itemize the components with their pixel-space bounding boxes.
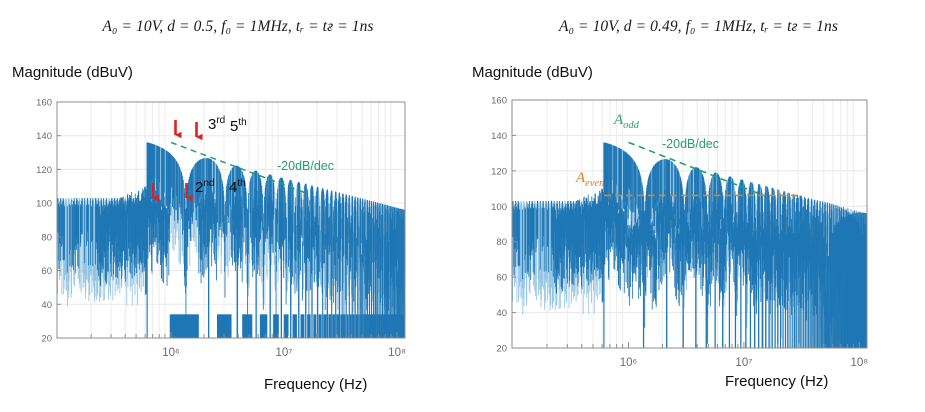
left-panel-title: A₀ = 10V, d = 0.5, f₀ = 1MHz, tᵣ = tғ = …	[0, 18, 462, 36]
left-x-tick-labels: 10⁶ 10⁷ 10⁸	[162, 347, 406, 359]
left-panel: A₀ = 10V, d = 0.5, f₀ = 1MHz, tᵣ = tғ = …	[0, 0, 462, 412]
y-tick-label: 140	[36, 131, 52, 142]
y-tick-label: 120	[491, 166, 507, 177]
x-tick-label: 10⁷	[276, 347, 293, 359]
left-plot-svg: 160 140 120 100 80 60 40 20 10⁶ 10⁷ 10⁸	[0, 90, 462, 370]
right-y-axis-title: Magnitude (dBuV)	[472, 64, 593, 81]
y-tick-label: 40	[41, 300, 52, 311]
right-x-axis-title: Frequency (Hz)	[725, 373, 828, 390]
left-x-axis-title: Frequency (Hz)	[264, 376, 367, 393]
right-plot-svg: 160 140 120 100 80 60 40 20 10⁶ 10⁷ 10⁸	[462, 88, 925, 368]
left-plot-area: 160 140 120 100 80 60 40 20 10⁶ 10⁷ 10⁸	[0, 90, 462, 370]
right-x-tick-labels: 10⁶ 10⁷ 10⁸	[620, 357, 869, 368]
y-tick-label: 160	[36, 98, 52, 109]
y-tick-label: 40	[496, 308, 507, 319]
y-tick-label: 100	[36, 199, 52, 210]
left-y-tick-labels: 160 140 120 100 80 60 40 20	[36, 98, 52, 345]
x-tick-label: 10⁶	[620, 357, 638, 368]
y-tick-label: 160	[491, 96, 507, 107]
y-tick-label: 120	[36, 165, 52, 176]
figure-pair: A₀ = 10V, d = 0.5, f₀ = 1MHz, tᵣ = tғ = …	[0, 0, 925, 412]
x-tick-label: 10⁷	[735, 357, 752, 368]
y-tick-label: 100	[491, 202, 507, 213]
left-y-axis-title: Magnitude (dBuV)	[12, 64, 133, 81]
y-tick-label: 20	[496, 344, 507, 355]
y-tick-label: 80	[41, 232, 52, 243]
y-tick-label: 60	[496, 273, 507, 284]
x-tick-label: 10⁸	[850, 357, 868, 368]
y-tick-label: 140	[491, 131, 507, 142]
y-tick-label: 20	[41, 334, 52, 345]
x-tick-label: 10⁶	[162, 347, 180, 359]
right-panel-title: A₀ = 10V, d = 0.49, f₀ = 1MHz, tᵣ = tғ =…	[462, 18, 925, 36]
y-tick-label: 80	[496, 237, 507, 248]
right-panel: A₀ = 10V, d = 0.49, f₀ = 1MHz, tᵣ = tғ =…	[462, 0, 925, 412]
y-tick-label: 60	[41, 266, 52, 277]
right-plot-area: 160 140 120 100 80 60 40 20 10⁶ 10⁷ 10⁸	[462, 88, 925, 368]
right-y-tick-labels: 160 140 120 100 80 60 40 20	[491, 96, 507, 355]
x-tick-label: 10⁸	[388, 347, 406, 359]
